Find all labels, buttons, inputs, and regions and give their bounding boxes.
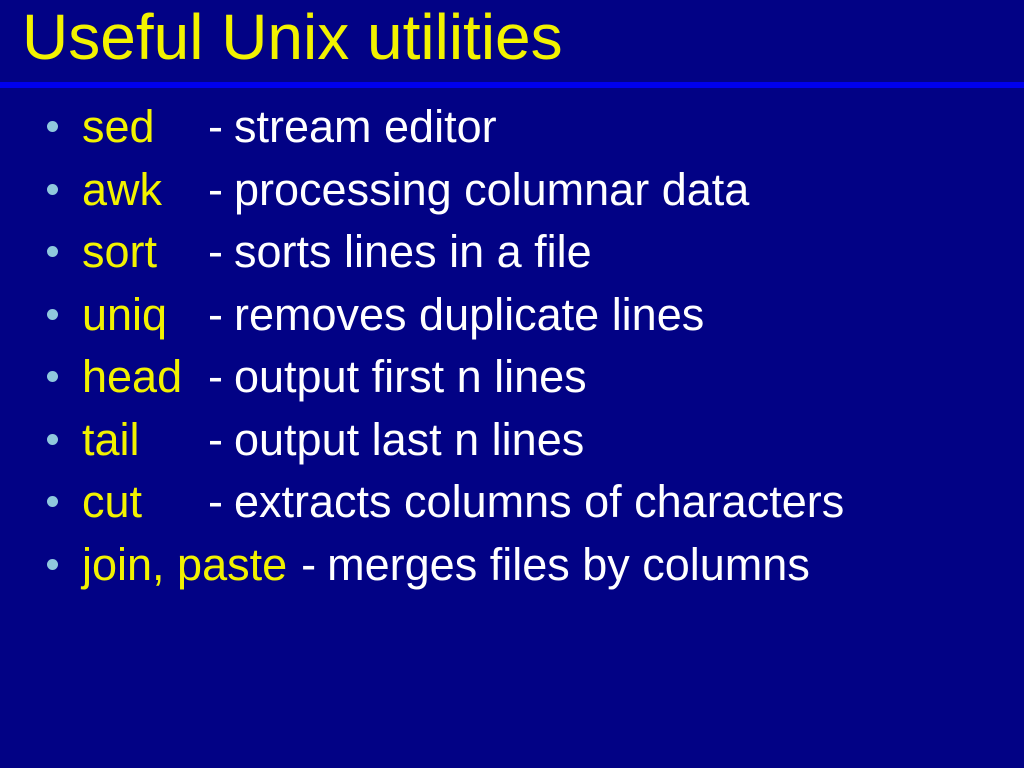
command-description: stream editor	[234, 96, 497, 159]
list-item: cut-extracts columns of characters	[0, 471, 1024, 534]
command-name: join, paste	[82, 534, 301, 597]
title-divider	[0, 82, 1024, 88]
list-item: head-output first n lines	[0, 346, 1024, 409]
command-name: awk	[82, 159, 208, 222]
command-description: sorts lines in a file	[234, 221, 592, 284]
list-item: uniq-removes duplicate lines	[0, 284, 1024, 347]
list-item: sed-stream editor	[0, 96, 1024, 159]
separator-dash: -	[208, 96, 234, 159]
command-name: cut	[82, 471, 208, 534]
command-name: uniq	[82, 284, 208, 347]
separator-dash: -	[301, 534, 327, 597]
command-description: processing columnar data	[234, 159, 749, 222]
list-item: join, paste-merges files by columns	[0, 534, 1024, 597]
separator-dash: -	[208, 471, 234, 534]
separator-dash: -	[208, 409, 234, 472]
slide: Useful Unix utilities sed-stream editora…	[0, 0, 1024, 768]
list-item: awk-processing columnar data	[0, 159, 1024, 222]
separator-dash: -	[208, 284, 234, 347]
bullet-dot-icon	[47, 184, 58, 195]
command-description: removes duplicate lines	[234, 284, 704, 347]
separator-dash: -	[208, 159, 234, 222]
command-name: sort	[82, 221, 208, 284]
bullet-dot-icon	[47, 559, 58, 570]
bullet-dot-icon	[47, 246, 58, 257]
bullet-dot-icon	[47, 371, 58, 382]
title-area: Useful Unix utilities	[0, 0, 1024, 82]
command-name: tail	[82, 409, 208, 472]
list-item: sort-sorts lines in a file	[0, 221, 1024, 284]
bullet-dot-icon	[47, 496, 58, 507]
command-description: output first n lines	[234, 346, 587, 409]
utilities-list: sed-stream editorawk-processing columnar…	[0, 96, 1024, 596]
bullet-dot-icon	[47, 309, 58, 320]
separator-dash: -	[208, 221, 234, 284]
command-name: head	[82, 346, 208, 409]
command-description: output last n lines	[234, 409, 584, 472]
command-description: merges files by columns	[327, 534, 810, 597]
bullet-dot-icon	[47, 434, 58, 445]
separator-dash: -	[208, 346, 234, 409]
page-title: Useful Unix utilities	[22, 0, 563, 76]
bullet-dot-icon	[47, 121, 58, 132]
list-item: tail-output last n lines	[0, 409, 1024, 472]
command-description: extracts columns of characters	[234, 471, 844, 534]
command-name: sed	[82, 96, 208, 159]
